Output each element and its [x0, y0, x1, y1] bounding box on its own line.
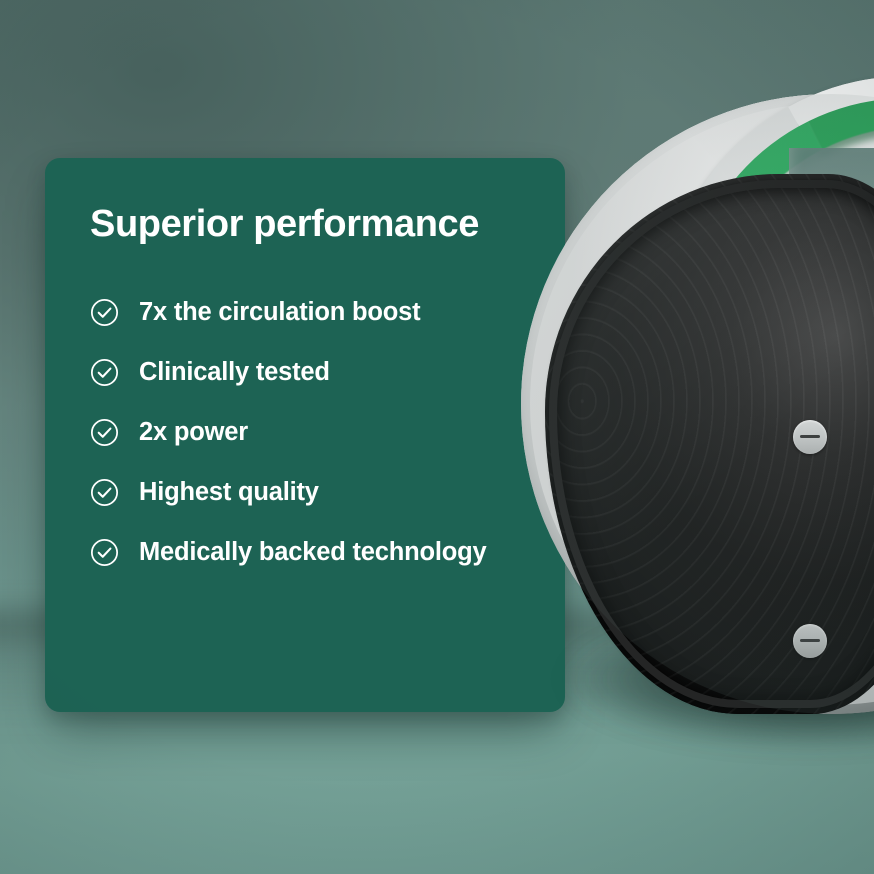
background-vignette: [0, 0, 874, 874]
promo-image: REVITIV 70 30 Superior performa: [0, 0, 874, 874]
